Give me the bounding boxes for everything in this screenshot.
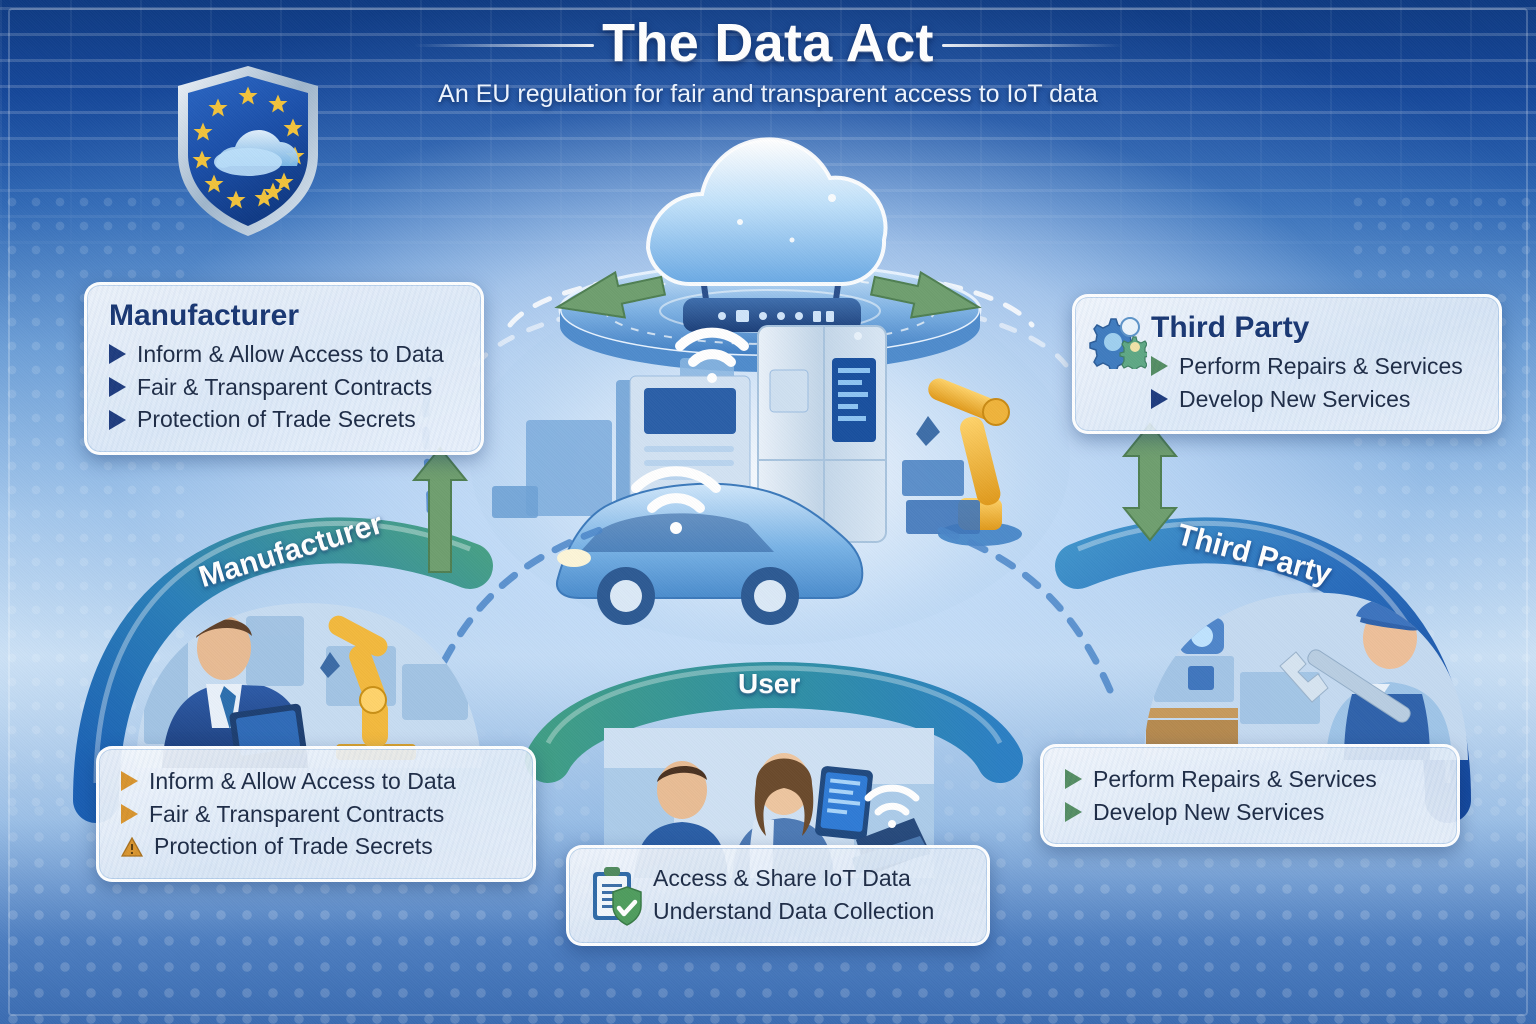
triangle-bullet-icon — [1065, 802, 1082, 822]
list-item: Perform Repairs & Services — [1151, 350, 1479, 383]
scene-third-party — [1140, 560, 1470, 760]
list-item: Inform & Allow Access to Data — [121, 765, 513, 798]
list-item: Understand Data Collection — [653, 895, 967, 928]
clipboard-check-icon — [587, 864, 645, 926]
triangle-bullet-icon — [121, 804, 138, 824]
list-item-label: Inform & Allow Access to Data — [149, 765, 456, 798]
list-item-label: Access & Share IoT Data — [653, 862, 911, 895]
triangle-bullet-icon — [1151, 389, 1168, 409]
list-item-label: Develop New Services — [1093, 796, 1324, 829]
scene-manufacturer — [126, 568, 486, 768]
arc-label-user: User — [738, 668, 800, 700]
list-item: Inform & Allow Access to Data — [109, 338, 461, 371]
dashed-data-links — [426, 380, 1110, 690]
card-manufacturer-bottom[interactable]: Inform & Allow Access to Data Fair & Tra… — [96, 746, 536, 882]
arrow-into-hub-left — [553, 263, 668, 330]
list-item: Develop New Services — [1151, 383, 1479, 416]
eu-cloud-shield-logo — [172, 62, 324, 240]
list-item-label: Inform & Allow Access to Data — [137, 338, 444, 371]
list-item-label: Develop New Services — [1179, 383, 1410, 416]
list-item-label: Perform Repairs & Services — [1093, 763, 1377, 796]
card-third-party-bottom[interactable]: Perform Repairs & Services Develop New S… — [1040, 744, 1460, 847]
list-item-label: Fair & Transparent Contracts — [137, 371, 432, 404]
card-user[interactable]: Access & Share IoT Data Understand Data … — [566, 845, 990, 946]
triangle-bullet-icon — [109, 377, 126, 397]
page-title: The Data Act — [534, 12, 1002, 74]
triangle-bullet-icon — [109, 344, 126, 364]
list-item: Access & Share IoT Data — [653, 862, 967, 895]
warning-triangle-icon — [121, 837, 143, 857]
card-third-party-top[interactable]: Third Party Perform Repairs & Services D… — [1072, 294, 1502, 434]
pallet — [1146, 708, 1238, 746]
card-title: Third Party — [1151, 311, 1479, 344]
triangle-bullet-icon — [1151, 356, 1168, 376]
list-item: Protection of Trade Secrets — [121, 830, 513, 863]
list-item-label: Protection of Trade Secrets — [154, 830, 433, 863]
list-item-label: Protection of Trade Secrets — [137, 403, 416, 436]
infographic-canvas: Manufacturer User Third Party — [0, 0, 1536, 1024]
list-item: Protection of Trade Secrets — [109, 403, 461, 436]
list-item: Fair & Transparent Contracts — [121, 798, 513, 831]
gears-icon — [1089, 313, 1147, 369]
list-item: Perform Repairs & Services — [1065, 763, 1437, 796]
list-item: Fair & Transparent Contracts — [109, 371, 461, 404]
list-item-label: Understand Data Collection — [653, 895, 934, 928]
list-item-label: Fair & Transparent Contracts — [149, 798, 444, 831]
triangle-bullet-icon — [109, 410, 126, 430]
arrow-into-hub-right — [868, 263, 983, 330]
list-item-label: Perform Repairs & Services — [1179, 350, 1463, 383]
list-item: Develop New Services — [1065, 796, 1437, 829]
triangle-bullet-icon — [1065, 769, 1082, 789]
card-title: Manufacturer — [109, 299, 461, 332]
card-manufacturer-top[interactable]: Manufacturer Inform & Allow Access to Da… — [84, 282, 484, 455]
triangle-bullet-icon — [121, 771, 138, 791]
